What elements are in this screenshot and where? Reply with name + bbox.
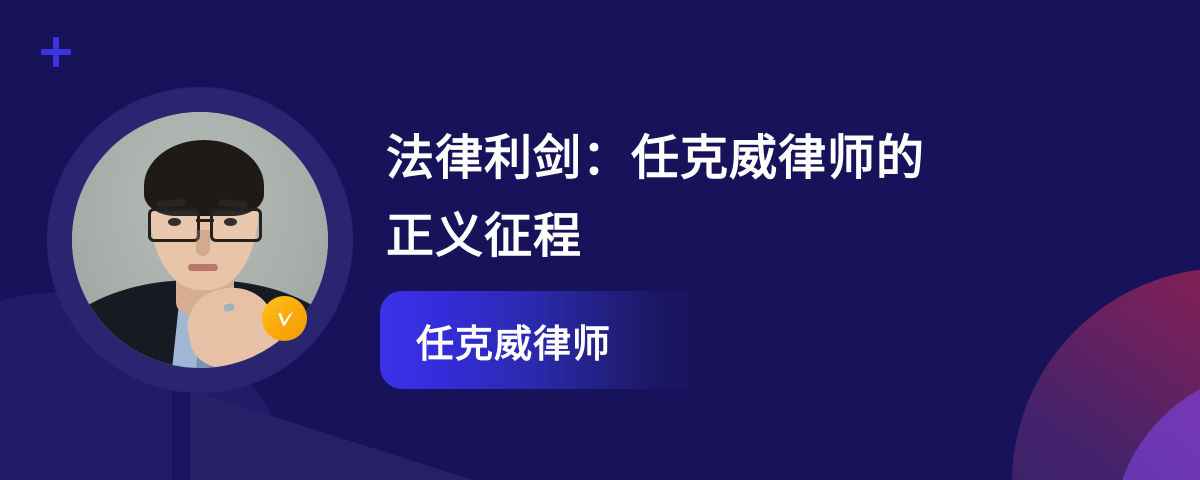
decor-wedge-edge [172, 382, 190, 480]
decor-wedge-left [190, 390, 520, 480]
profile-banner: 法律利剑：任克威律师的 正义征程 任克威律师 [0, 0, 1200, 480]
portrait-nose [196, 230, 210, 256]
name-tag-label: 任克威律师 [416, 313, 611, 368]
plus-icon-bar-vertical [53, 37, 59, 67]
page-title: 法律利剑：任克威律师的 正义征程 [386, 120, 1086, 276]
verified-badge-icon[interactable] [262, 296, 307, 341]
avatar[interactable] [47, 87, 353, 393]
plus-icon [41, 37, 71, 67]
portrait-lens-left [148, 208, 200, 242]
portrait-lens-right [210, 208, 262, 242]
name-tag-button[interactable]: 任克威律师 [380, 291, 710, 389]
portrait-mouth [188, 264, 218, 271]
